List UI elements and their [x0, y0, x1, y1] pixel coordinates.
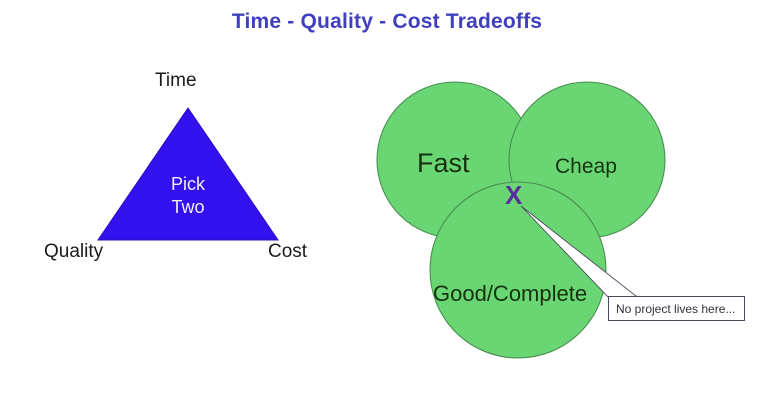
callout-text: No project lives here... — [616, 302, 735, 316]
venn-intersection-x-marker: X — [505, 182, 522, 208]
triangle-corner-label-quality: Quality — [44, 241, 103, 263]
triangle-inner-label: Pick Two — [140, 173, 236, 219]
venn-shapes — [355, 60, 774, 370]
venn-diagram-panel: Fast Cheap Good/Complete X No project li… — [355, 60, 774, 370]
venn-label-good-complete: Good/Complete — [433, 281, 587, 307]
triangle-corner-label-cost: Cost — [268, 241, 307, 263]
venn-label-cheap: Cheap — [555, 155, 617, 179]
triangle-corner-label-time: Time — [155, 70, 197, 92]
page-title: Time - Quality - Cost Tradeoffs — [0, 10, 774, 34]
callout-box: No project lives here... — [608, 296, 745, 321]
venn-label-fast: Fast — [417, 148, 470, 179]
tradeoff-triangle-panel: Pick Two Time Quality Cost — [0, 55, 360, 285]
diagram-canvas: Time - Quality - Cost Tradeoffs Pick Two… — [0, 0, 774, 402]
